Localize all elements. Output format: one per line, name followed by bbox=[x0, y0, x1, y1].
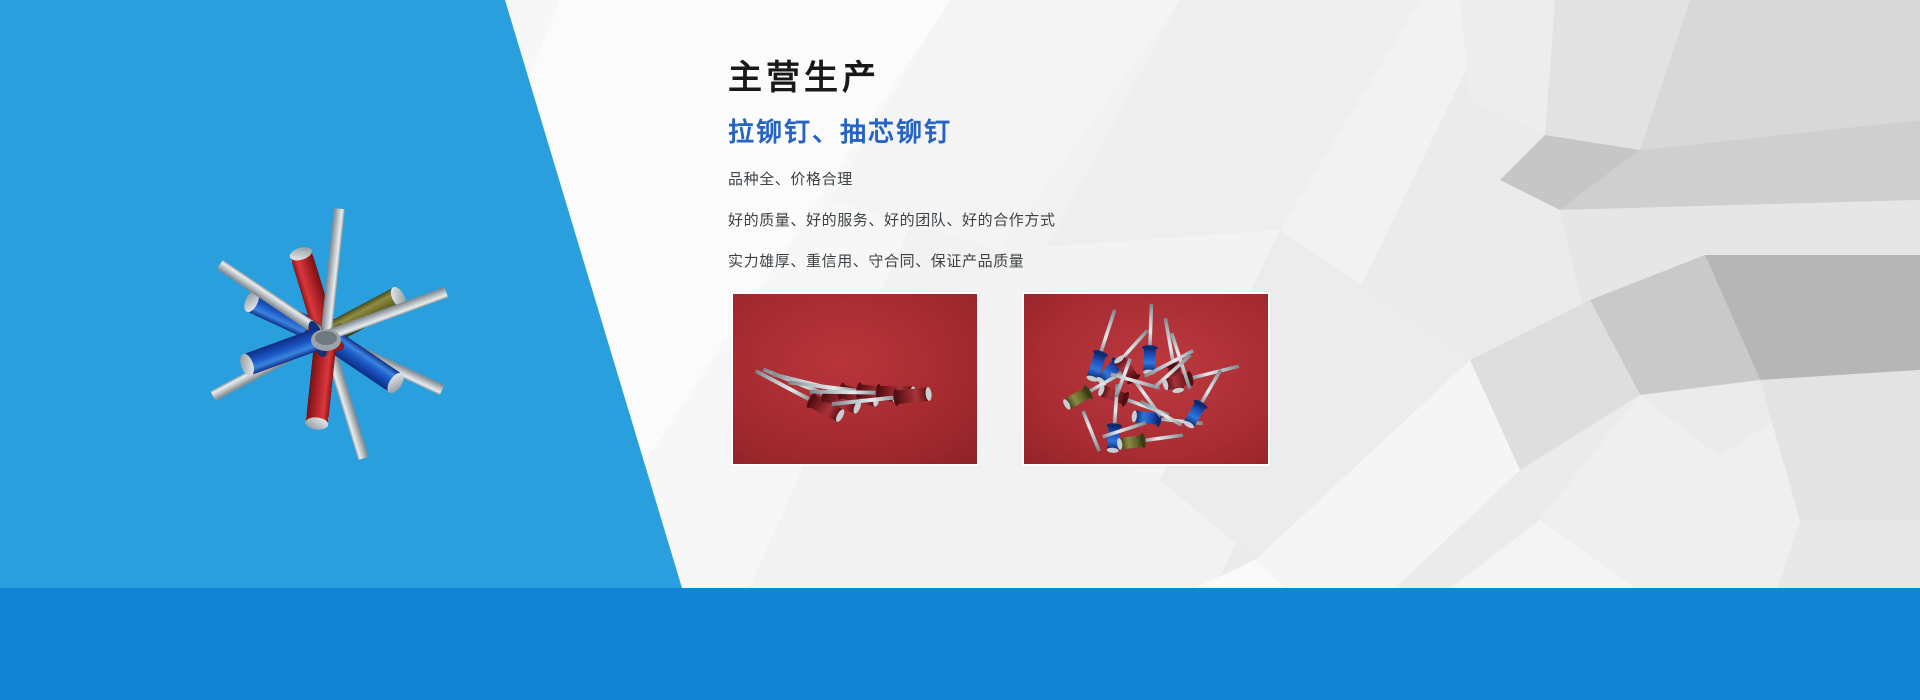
photo-mixed-rivets-scatter-image bbox=[1024, 294, 1268, 464]
description-line-3: 实力雄厚、重信用、守合同、保证产品质量 bbox=[728, 252, 1368, 272]
sub-title: 拉铆钉、抽芯铆钉 bbox=[728, 117, 1368, 148]
promo-banner: 主营生产 拉铆钉、抽芯铆钉 品种全、价格合理 好的质量、好的服务、好的团队、好的… bbox=[0, 0, 1920, 700]
rivet-star-artwork bbox=[40, 40, 600, 600]
photo-mixed-rivets-scatter[interactable] bbox=[1022, 292, 1270, 466]
description-line-2: 好的质量、好的服务、好的团队、好的合作方式 bbox=[728, 211, 1368, 231]
description-line-1: 品种全、价格合理 bbox=[728, 170, 1368, 190]
text-column: 主营生产 拉铆钉、抽芯铆钉 品种全、价格合理 好的质量、好的服务、好的团队、好的… bbox=[728, 58, 1368, 273]
photo-red-rivets-fan-image bbox=[733, 294, 977, 464]
photo-red-rivets-fan[interactable] bbox=[731, 292, 979, 466]
product-photo-gallery bbox=[731, 292, 1270, 466]
blue-wedge-dark bbox=[0, 588, 1920, 700]
main-title: 主营生产 bbox=[728, 58, 1368, 99]
